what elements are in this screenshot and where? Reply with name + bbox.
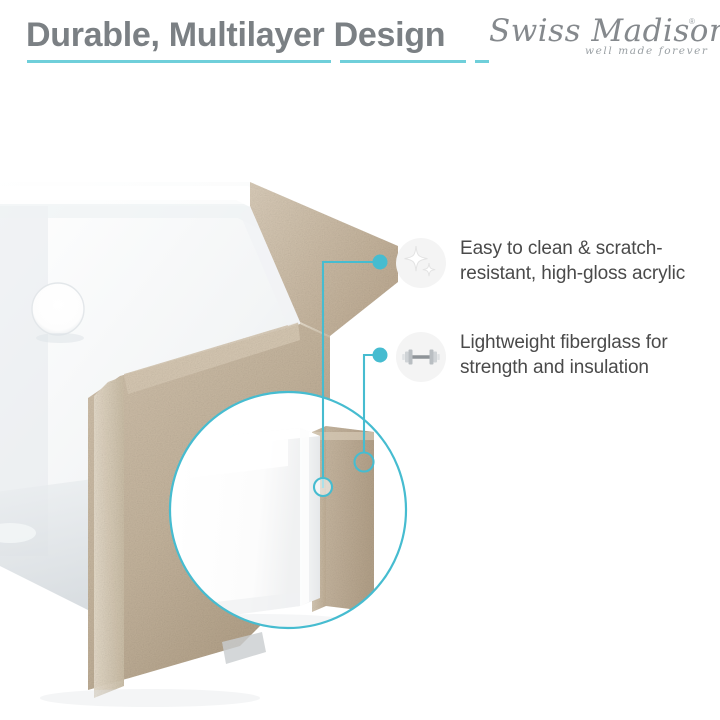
dumbbell-icon [396,332,446,382]
underline-gap-g [466,60,475,63]
title-block: Durable, Multilayer Design [26,13,496,65]
callout-acrylic-text: Easy to clean & scratch-resistant, high-… [460,236,716,286]
dumbbell-icon-badge [396,332,446,382]
page-title: Durable, Multilayer Design [26,13,445,57]
brand-tagline: well made forever [585,45,709,58]
header: Durable, Multilayer Design Swiss Madison… [0,0,720,82]
sparkle-icon [396,238,446,288]
registered-trademark-icon: ® [689,18,695,26]
magnifier-cross-section [168,374,408,646]
callout-fiberglass: Lightweight fiberglass for strength and … [396,330,716,382]
infographic-page: Durable, Multilayer Design Swiss Madison… [0,0,720,720]
fiberglass-slab-shape [312,426,374,612]
callout-acrylic: Easy to clean & scratch-resistant, high-… [396,236,716,288]
callout-fiberglass-text: Lightweight fiberglass for strength and … [460,330,716,380]
brand-logo: Swiss Madison ® well made forever [489,12,701,66]
sparkle-icon-badge [396,238,446,288]
underline-gap-y [331,60,340,63]
title-underline [27,60,489,63]
